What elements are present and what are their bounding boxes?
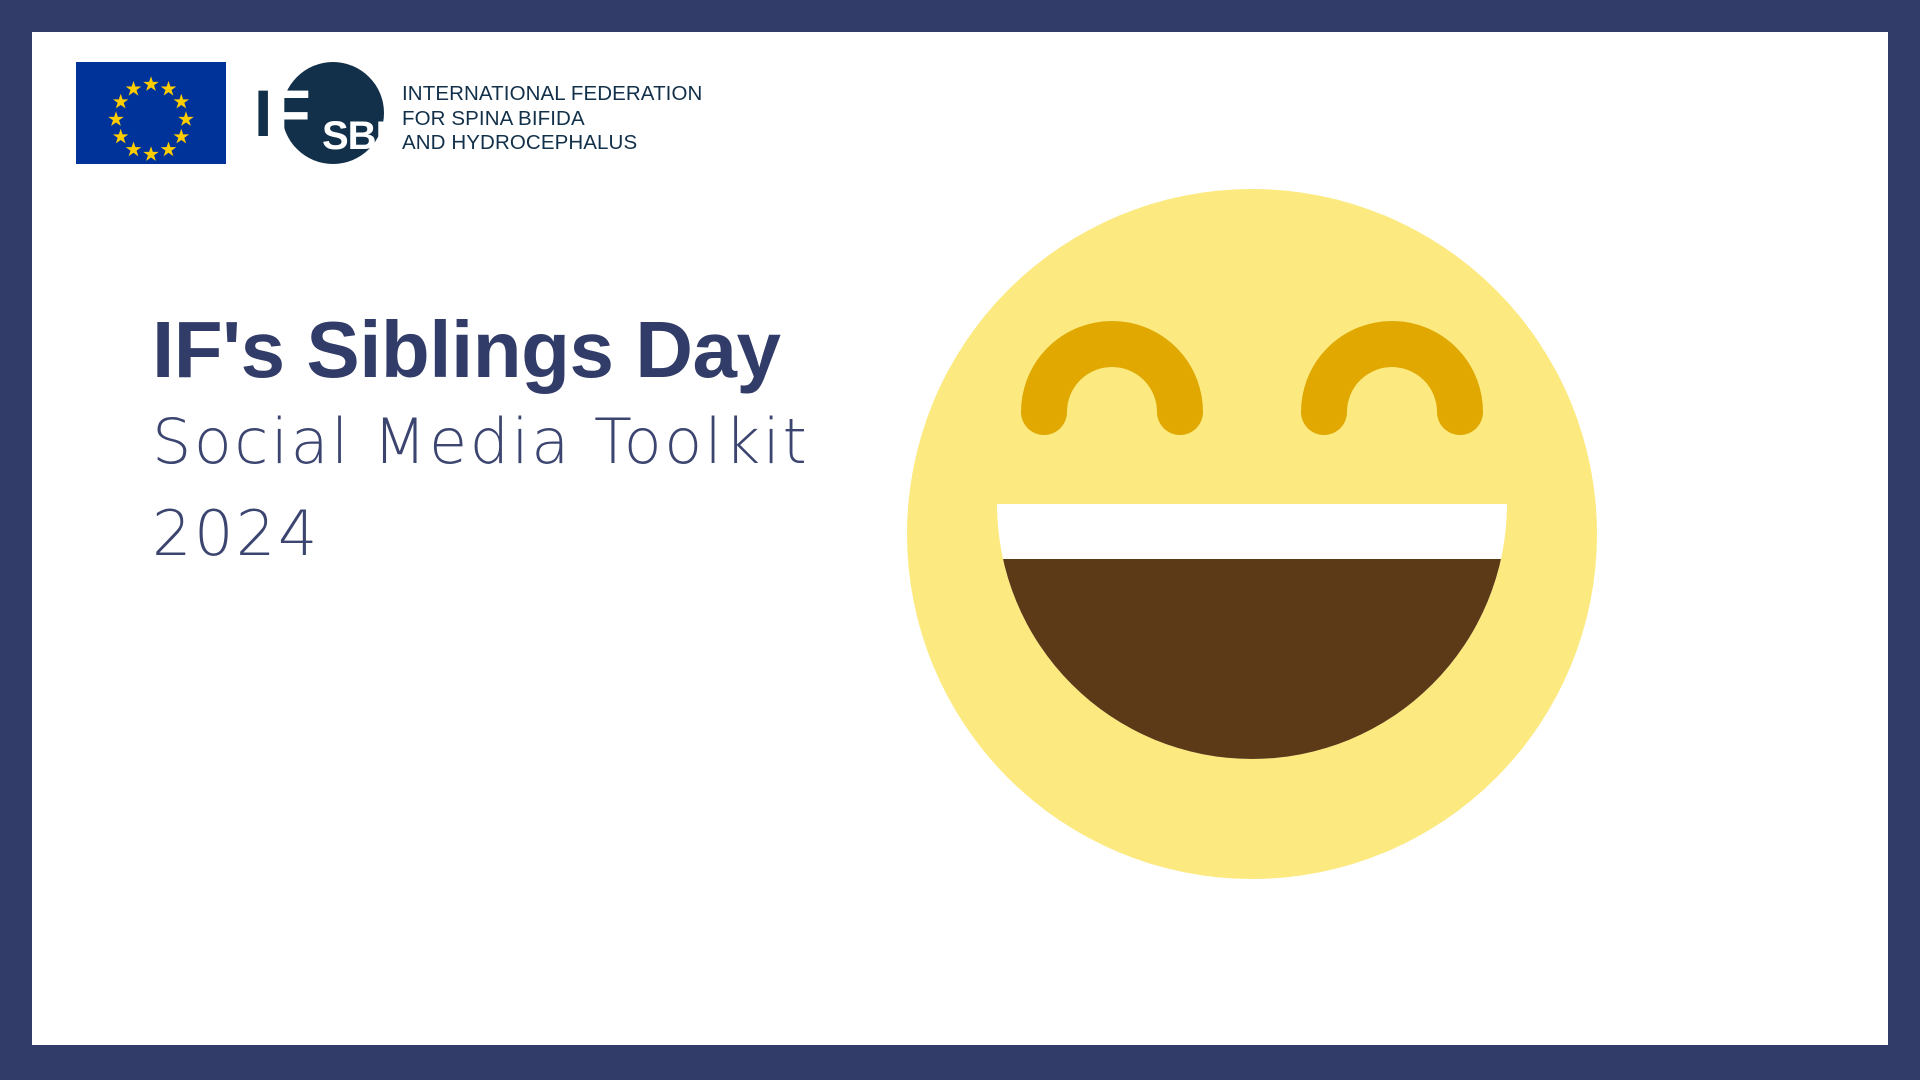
if-logo-sbh-letters: SBH bbox=[322, 116, 403, 156]
if-wordmark-line-2: FOR SPINA BIFIDA bbox=[402, 107, 702, 132]
european-union-flag-icon bbox=[76, 62, 226, 164]
subtitle-line-2: 2024 bbox=[152, 488, 1012, 580]
grinning-face-icon bbox=[902, 184, 1602, 884]
grinning-face-svg bbox=[902, 184, 1602, 884]
if-logo-letter-i: I bbox=[254, 76, 270, 150]
if-logo-letter-f: F bbox=[270, 76, 308, 150]
if-logo-mark: IF SBH bbox=[254, 62, 376, 170]
if-logo-letters: IF bbox=[254, 80, 309, 146]
if-wordmark: INTERNATIONAL FEDERATION FOR SPINA BIFID… bbox=[402, 62, 702, 156]
if-wordmark-line-3: AND HYDROCEPHALUS bbox=[402, 131, 702, 156]
headline-block: IF's Siblings Day Social Media Toolkit 2… bbox=[152, 304, 1012, 580]
slide-canvas: IF SBH INTERNATIONAL FEDERATION FOR SPIN… bbox=[32, 32, 1888, 1045]
page-title: IF's Siblings Day bbox=[152, 304, 1012, 396]
logo-bar: IF SBH INTERNATIONAL FEDERATION FOR SPIN… bbox=[76, 62, 702, 170]
if-wordmark-line-1: INTERNATIONAL FEDERATION bbox=[402, 82, 702, 107]
subtitle-line-1: Social Media Toolkit bbox=[152, 396, 1012, 488]
slide-frame: IF SBH INTERNATIONAL FEDERATION FOR SPIN… bbox=[0, 0, 1920, 1080]
